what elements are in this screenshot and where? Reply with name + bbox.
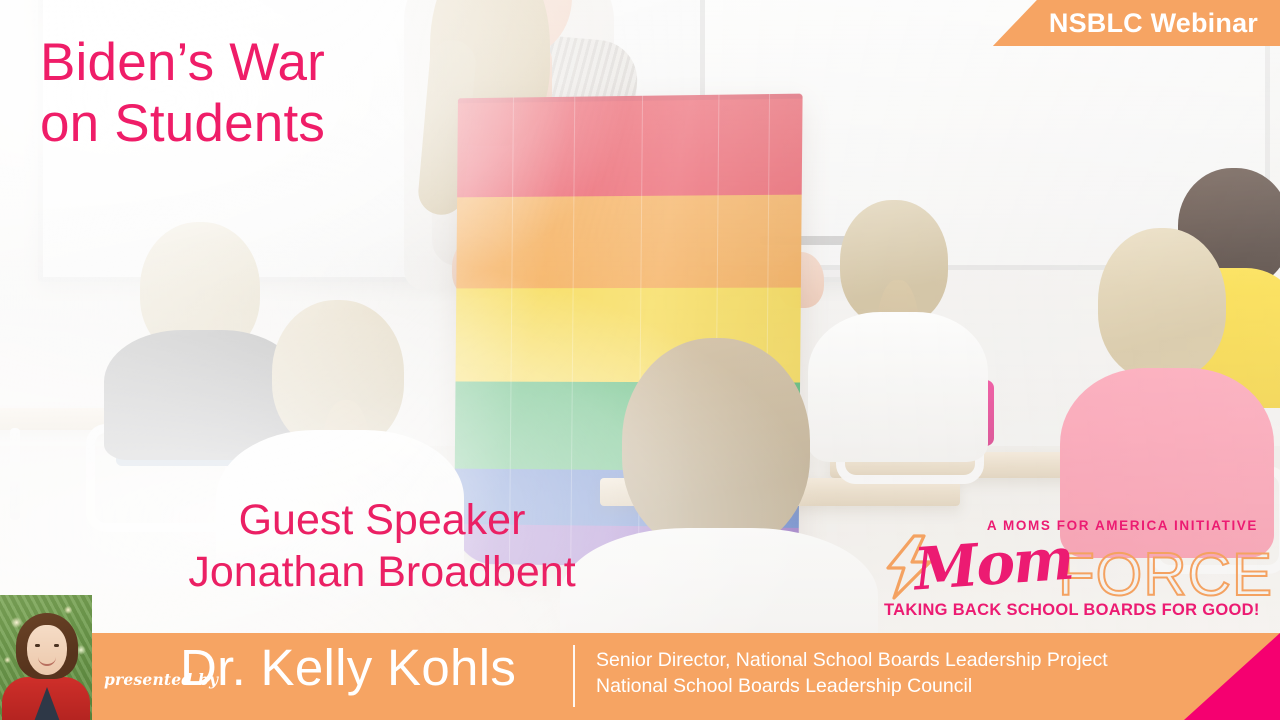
logo-word-mom: Mom xyxy=(912,525,1075,604)
nsblc-banner-label: NSBLC Webinar xyxy=(1049,8,1258,39)
logo-word-force: FORCE xyxy=(1058,540,1273,609)
presenter-roles: Senior Director, National School Boards … xyxy=(596,647,1108,699)
presenter-name: Dr. Kelly Kohls xyxy=(180,642,516,693)
avatar-eye-left xyxy=(35,644,40,647)
pink-corner-accent xyxy=(1184,633,1280,720)
webinar-promo-slide: NSBLC Webinar Biden’s War on Students Gu… xyxy=(0,0,1280,720)
presenter-bar: presented by Dr. Kelly Kohls Senior Dire… xyxy=(0,633,1280,720)
guest-speaker-text: Guest Speaker Jonathan Broadbent xyxy=(122,494,642,599)
avatar-eye-right xyxy=(54,644,59,647)
momforce-logo: A MOMS FOR AMERICA INITIATIVE FORCE Mom … xyxy=(880,518,1262,618)
avatar xyxy=(0,595,92,720)
bar-divider xyxy=(573,645,575,707)
nsblc-webinar-banner: NSBLC Webinar xyxy=(993,0,1280,46)
page-title: Biden’s War on Students xyxy=(40,32,325,155)
avatar-face xyxy=(27,625,67,675)
